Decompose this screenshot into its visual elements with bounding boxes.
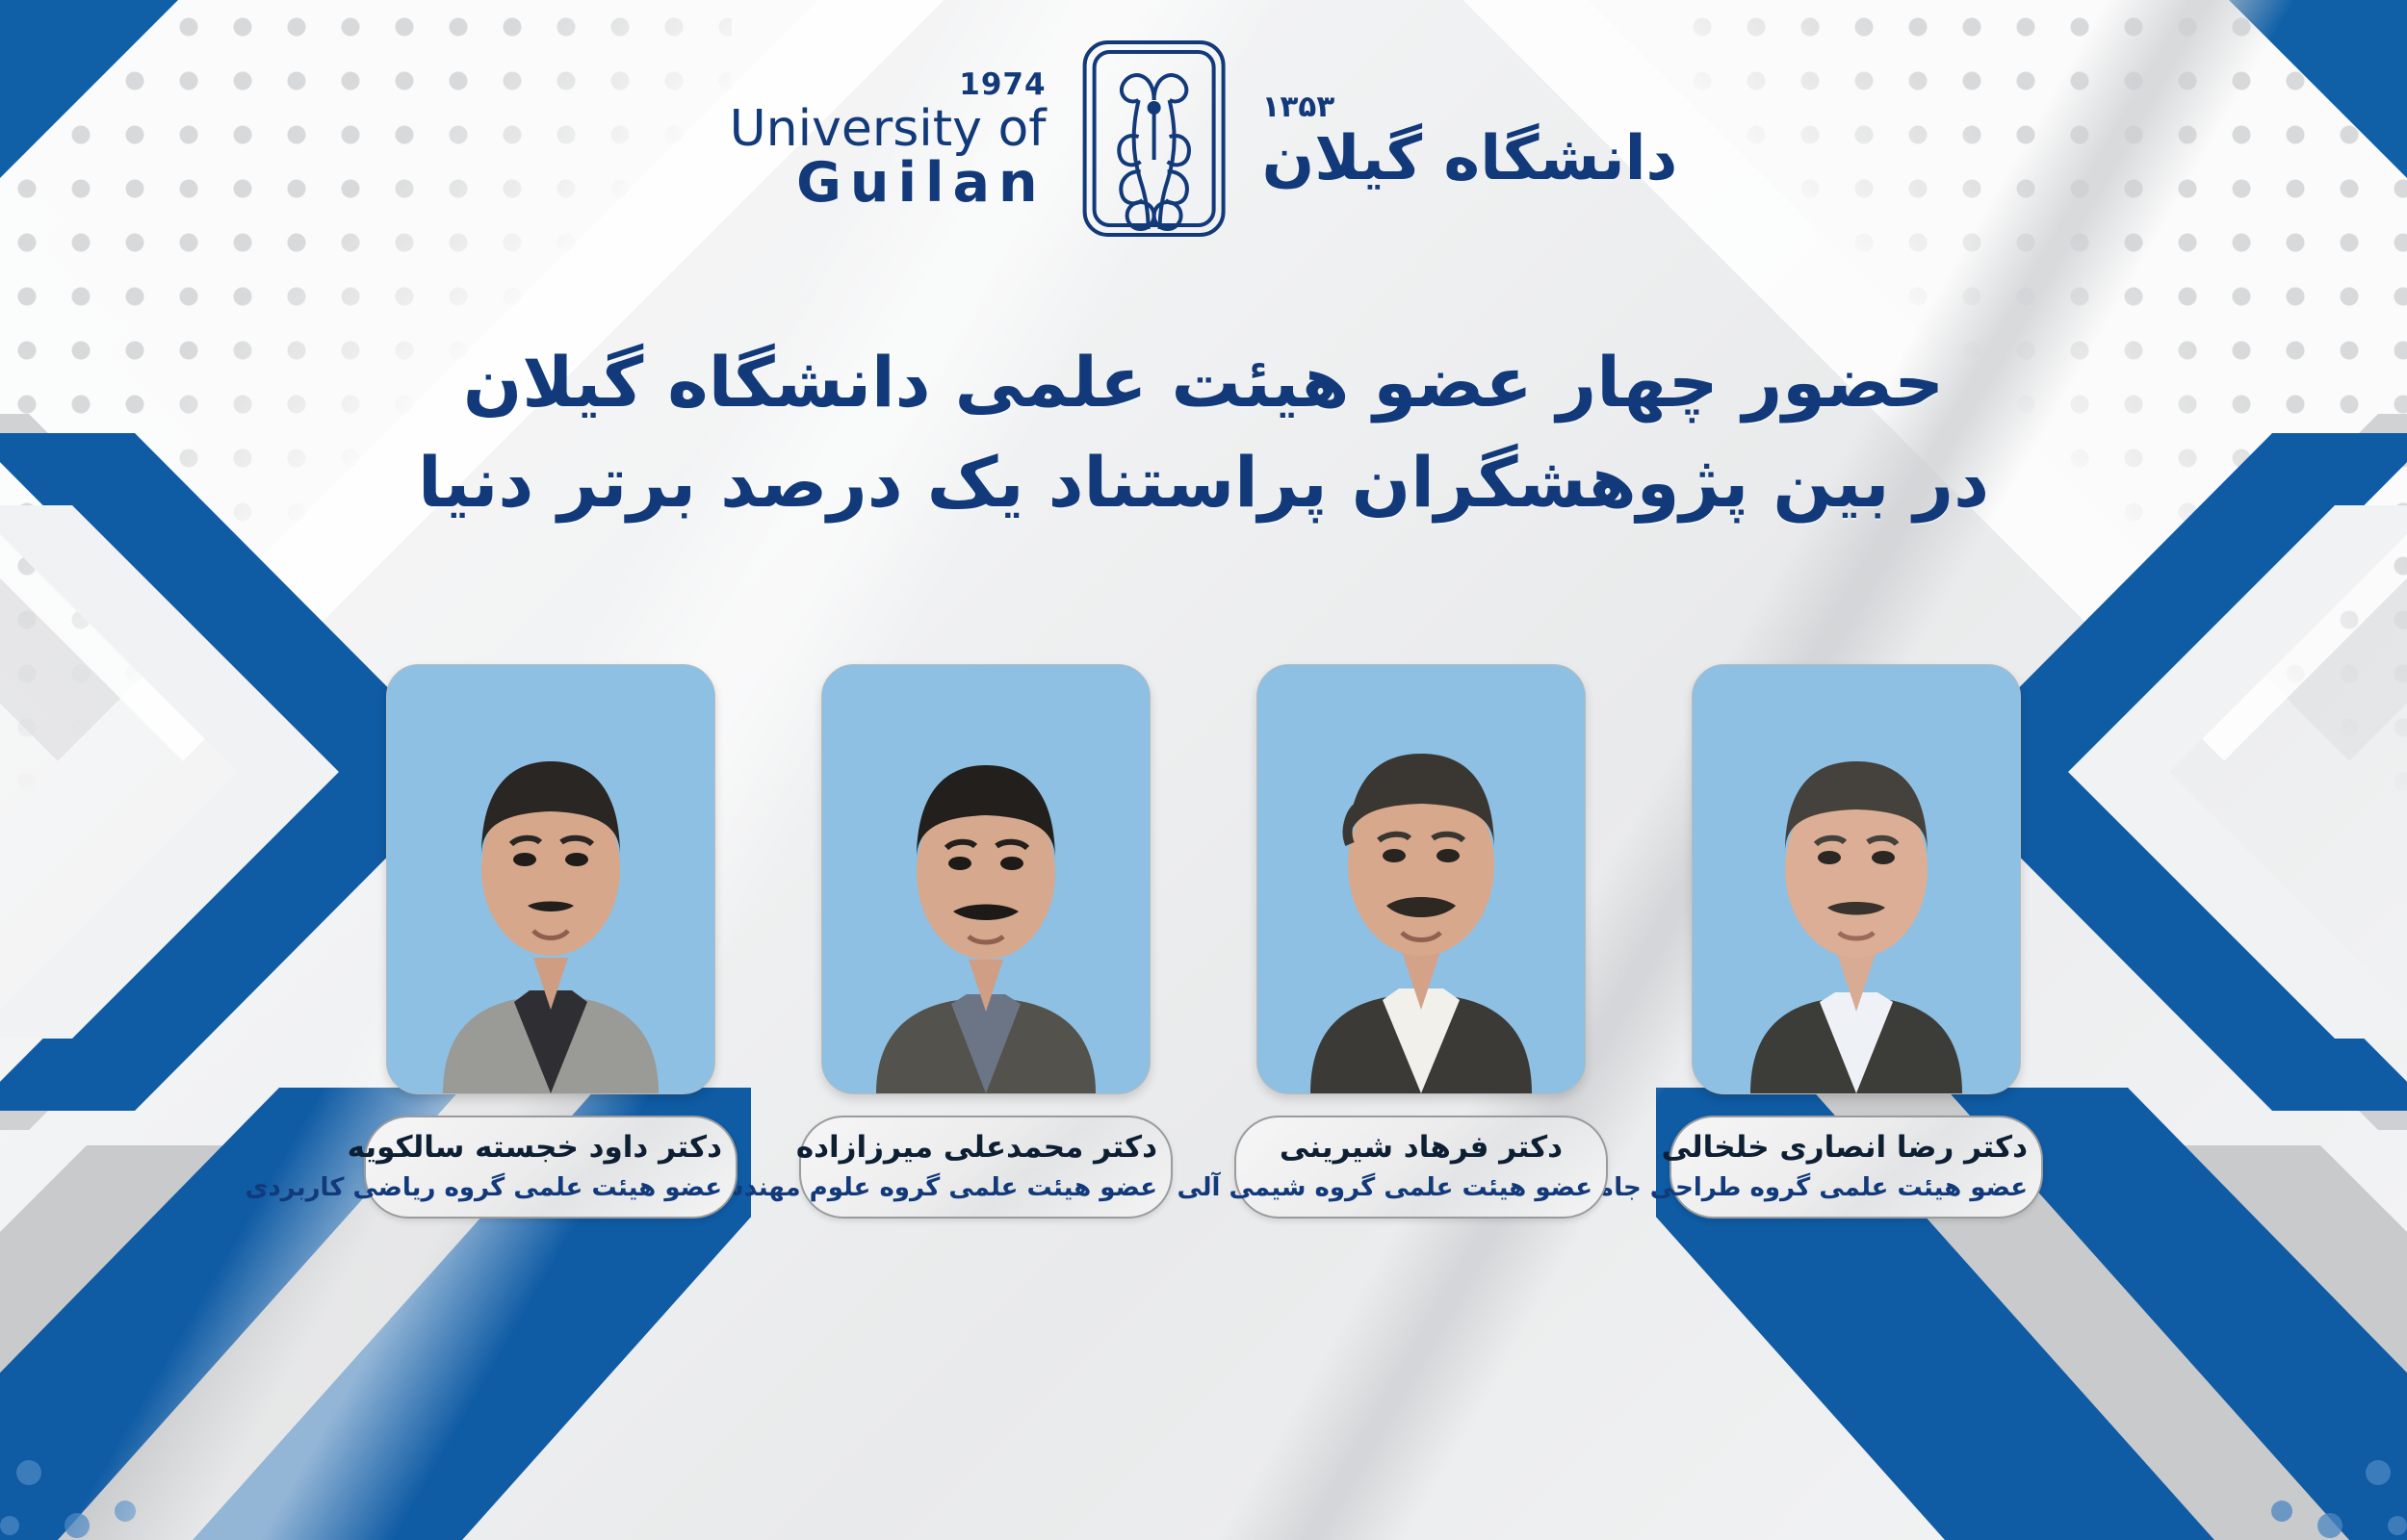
researcher-name: دکتر داود خجسته سالکویه <box>379 1129 722 1167</box>
researchers-row: دکتر رضا انصاری خلخالی عضو هیئت علمی گرو… <box>0 664 2407 1219</box>
researcher-role: عضو هیئت علمی گروه طراحی جامدات <box>1685 1172 2028 1204</box>
logo-english-block: 1974 University of Guilan <box>730 70 1064 211</box>
university-logo: 1974 University of Guilan <box>730 37 1678 244</box>
blue-corner-triangle-top-left <box>0 0 178 178</box>
logo-year-1974: 1974 <box>730 70 1047 100</box>
logo-university-name-fa: دانشگاه گیلان <box>1262 128 1678 190</box>
researcher-card: دکتر فرهاد شیرینی عضو هیئت علمی گروه شیم… <box>1257 664 1585 1219</box>
researcher-role: عضو هیئت علمی گروه علوم مهندسی <box>815 1172 1157 1204</box>
researcher-card: دکتر محمدعلی میرزازاده عضو هیئت علمی گرو… <box>822 664 1150 1219</box>
researcher-name: دکتر رضا انصاری خلخالی <box>1685 1129 2028 1167</box>
researcher-card: دکتر داود خجسته سالکویه عضو هیئت علمی گر… <box>387 664 714 1219</box>
logo-year-1353: ۱۳۵۳ <box>1262 92 1678 122</box>
name-plate: دکتر فرهاد شیرینی عضو هیئت علمی گروه شیم… <box>1234 1116 1608 1219</box>
title-line-1: حضور چهار عضو هیئت علمی دانشگاه گیلان <box>0 332 2407 432</box>
portrait-davod-khojasteh-salkuyeh <box>386 664 715 1094</box>
portrait-mohammadali-mirzazadeh <box>821 664 1151 1094</box>
logo-university-word: University of <box>730 104 1047 154</box>
page-title: حضور چهار عضو هیئت علمی دانشگاه گیلان در… <box>0 332 2407 533</box>
portrait-reza-ansari-khalkhali <box>1692 664 2021 1094</box>
name-plate: دکتر رضا انصاری خلخالی عضو هیئت علمی گرو… <box>1669 1116 2043 1219</box>
researcher-role: عضو هیئت علمی گروه شیمی آلی <box>1250 1172 1592 1204</box>
name-plate: دکتر داود خجسته سالکویه عضو هیئت علمی گر… <box>364 1116 738 1219</box>
guilan-university-emblem-icon <box>1064 37 1245 244</box>
name-plate: دکتر محمدعلی میرزازاده عضو هیئت علمی گرو… <box>799 1116 1173 1219</box>
title-line-2: در بین پژوهشگران پراستناد یک درصد برتر د… <box>0 432 2407 532</box>
researcher-card: دکتر رضا انصاری خلخالی عضو هیئت علمی گرو… <box>1693 664 2020 1219</box>
researcher-name: دکتر فرهاد شیرینی <box>1250 1129 1592 1167</box>
researcher-role: عضو هیئت علمی گروه ریاضی کاربردی <box>379 1172 722 1204</box>
blue-corner-triangle-top-right <box>2229 0 2407 178</box>
poster-canvas: 1974 University of Guilan <box>0 0 2407 1540</box>
portrait-farhad-shirini <box>1256 664 1586 1094</box>
logo-persian-block: ۱۳۵۳ دانشگاه گیلان <box>1245 92 1678 190</box>
logo-guilan-word: Guilan <box>730 156 1047 211</box>
researcher-name: دکتر محمدعلی میرزازاده <box>815 1129 1157 1167</box>
